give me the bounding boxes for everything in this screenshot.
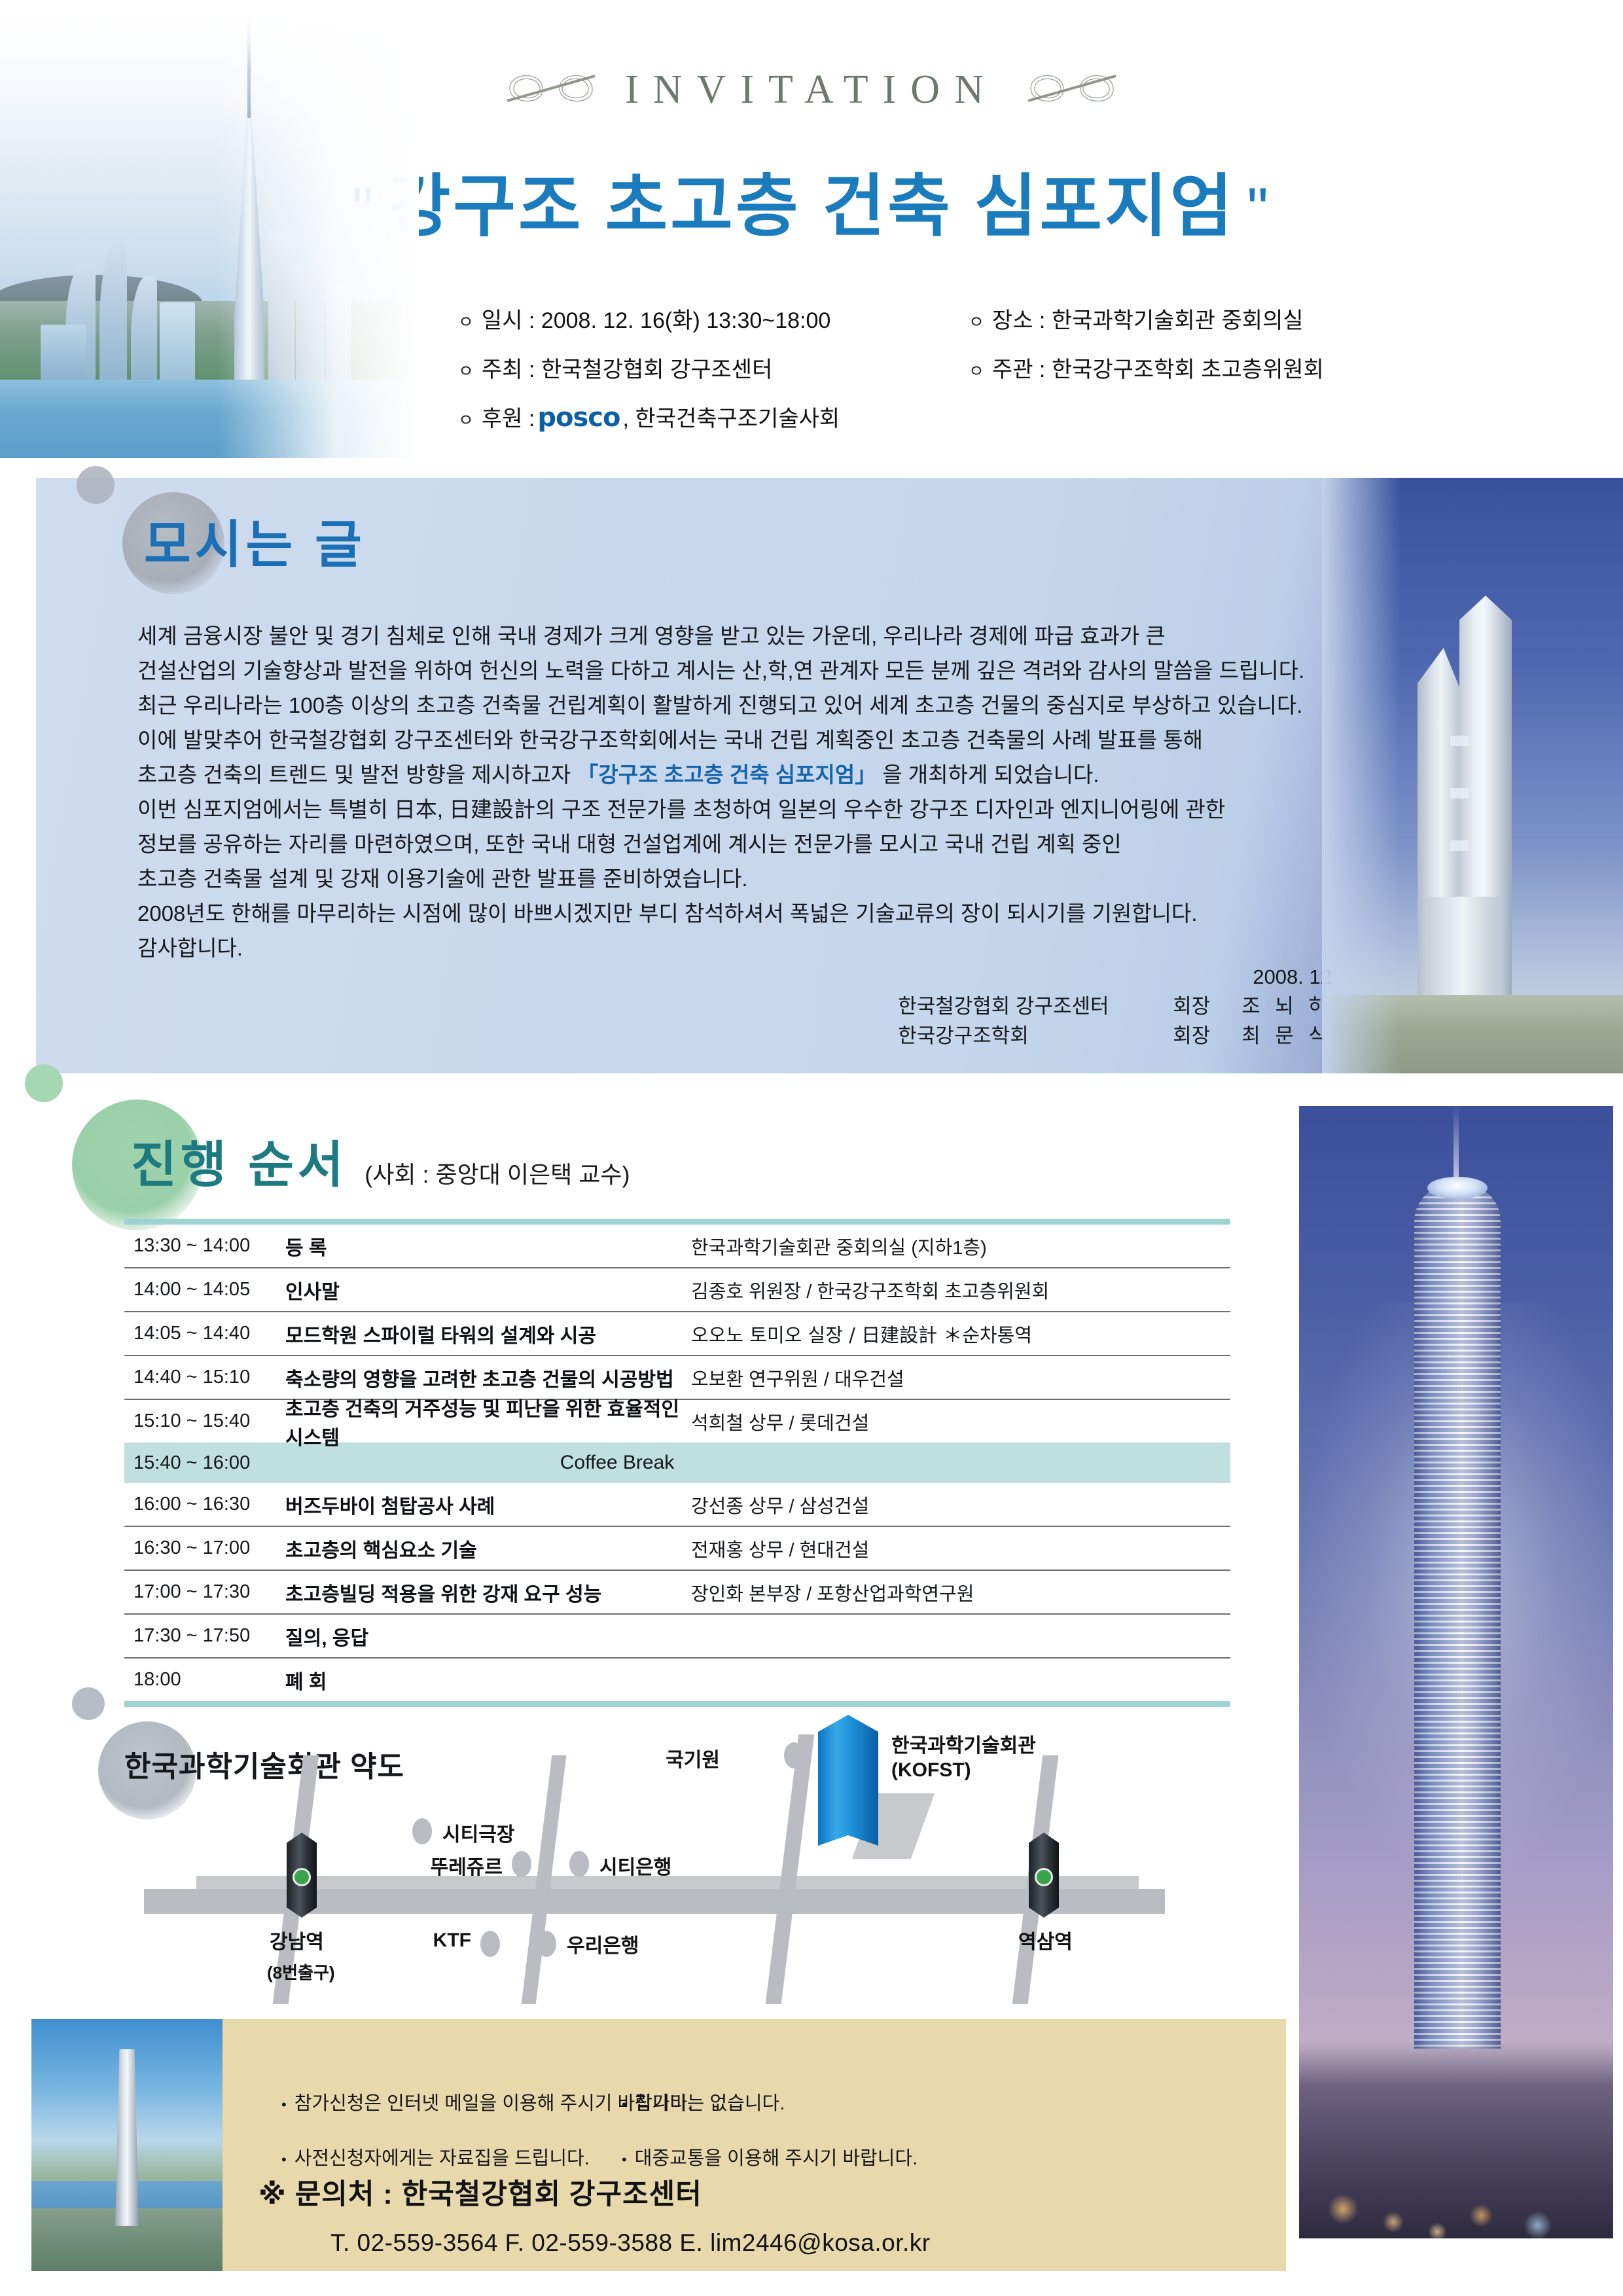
signature-org: 한국강구조학회 [898, 1021, 1173, 1050]
label-ktf: KTF [433, 1929, 471, 1952]
info-sponsor: ㅇ 후원 : posco , 한국건축구조기술사회 [458, 401, 840, 433]
row-time: 16:00 ~ 16:30 [124, 1494, 285, 1515]
subway-station-gangnam-icon [287, 1833, 317, 1918]
kofst-label: 한국과학기술회관 [891, 1729, 1036, 1758]
header-info-row: ㅇ 일시 : 2008. 12. 16(화) 13:30~18:00 ㅇ 장소 … [458, 302, 1571, 334]
bullet-icon: ㅇ [969, 309, 984, 333]
decor-dot-green-small [25, 1064, 63, 1102]
poi-dot-city-theater [412, 1818, 432, 1844]
signature-date-row: 2008. 12 [887, 962, 1332, 992]
row-topic: 초고층빌딩 적용을 위한 강재 요구 성능 [285, 1578, 691, 1607]
greeting-line: 초고층 건축물 설계 및 강재 이용기술에 관한 발표를 준비하였습니다. [137, 861, 1335, 896]
row-time: 15:10 ~ 15:40 [124, 1410, 285, 1432]
row-time: 18:00 [124, 1669, 285, 1691]
bullet-icon: ㅇ [458, 407, 474, 431]
bullet-icon: ㅇ [458, 358, 474, 382]
table-row: 15:10 ~ 15:40 초고층 건축의 거주성능 및 피난을 위한 효율적인… [124, 1400, 1230, 1443]
greeting-body: 세계 금융시장 불안 및 경기 침체로 인해 국내 경제가 크게 영향을 받고 … [137, 619, 1335, 965]
greeting-line-highlighted: 초고층 건축의 트렌드 및 발전 방향을 제시하고자 「강구조 초고층 건축 심… [137, 757, 1335, 792]
footer-note-label: 참가비는 없습니다. [635, 2088, 785, 2115]
ornament-right-icon [1023, 63, 1121, 117]
table-row: 16:00 ~ 16:30 버즈두바이 첨탑공사 사례 강선종 상무 / 삼성건… [124, 1483, 1230, 1527]
row-break-label: Coffee Break [285, 1452, 1230, 1474]
footer-note-row: • 참가신청은 인터넷 메일을 이용해 주시기 바랍니다. • 참가비는 없습니… [281, 2088, 1198, 2115]
signature-row: 한국강구조학회 회장 최 문 식 [887, 1021, 1332, 1050]
signature-row: 한국철강협회 강구조센터 회장 조 뇌 하 [887, 992, 1332, 1021]
contact-heading: ※ 문의처 : 한국철강협회 강구조센터 [259, 2172, 931, 2212]
decor-dot-map-small [72, 1687, 105, 1720]
row-time: 15:40 ~ 16:00 [124, 1452, 285, 1474]
info-host-label: 주최 : 한국철강협회 강구조센터 [482, 351, 772, 384]
greeting-line: 2008년도 한해를 마무리하는 시점에 많이 바쁘시겠지만 부디 참석하셔서 … [137, 896, 1335, 931]
info-sponsor-suffix: , 한국건축구조기술사회 [623, 401, 840, 433]
label-yeoksam-station: 역삼역 [1018, 1926, 1073, 1954]
ornament-left-icon [502, 63, 600, 117]
table-row: 17:00 ~ 17:30 초고층빌딩 적용을 위한 강재 요구 성능 장인화 … [124, 1571, 1230, 1615]
signature-date: 2008. 12 [1253, 962, 1332, 992]
footer-note-item: • 참가신청은 인터넷 메일을 이용해 주시기 바랍니다. [281, 2088, 622, 2115]
row-time: 14:00 ~ 14:05 [124, 1279, 285, 1300]
row-time: 14:05 ~ 14:40 [124, 1323, 285, 1344]
label-tourlesjours: 뚜레쥬르 [431, 1851, 503, 1880]
footer-note-label: 사전신청자에게는 자료집을 드립니다. [294, 2143, 590, 2170]
info-venue-label: 장소 : 한국과학기술회관 중회의실 [992, 302, 1304, 334]
row-time: 16:30 ~ 17:00 [124, 1537, 285, 1559]
contact-details: T. 02-559-3564 F. 02-559-3588 E. lim2446… [330, 2229, 931, 2257]
title-quote-close: " [1235, 176, 1283, 243]
greeting-line: 정보를 공유하는 자리를 마련하였으며, 또한 국내 대형 건설업계에 계시는 … [137, 827, 1335, 861]
photo-fade-top [0, 0, 419, 458]
row-topic: 버즈두바이 첨탑공사 사례 [285, 1490, 691, 1519]
row-speaker: 김종호 위원장 / 한국강구조학회 초고층위원회 [691, 1276, 1230, 1304]
header-skyline-photo [0, 0, 419, 458]
row-speaker: 전재홍 상무 / 현대건설 [691, 1535, 1230, 1562]
info-datetime: ㅇ 일시 : 2008. 12. 16(화) 13:30~18:00 [458, 302, 969, 334]
info-host: ㅇ 주최 : 한국철강협회 강구조센터 [458, 351, 969, 384]
greeting-line: 세계 금융시장 불안 및 경기 침체로 인해 국내 경제가 크게 영향을 받고 … [137, 619, 1335, 653]
map-title: 한국과학기술회관 약도 [124, 1743, 404, 1785]
sky-bridge-3 [1450, 840, 1469, 851]
label-gangnam-exit: (8번출구) [267, 1960, 335, 1984]
row-topic: 초고층의 핵심요소 기술 [285, 1534, 691, 1563]
program-subtitle: (사회 : 중앙대 이은택 교수) [350, 1156, 630, 1196]
greeting-section: 모시는 글 세계 금융시장 불안 및 경기 침체로 인해 국내 경제가 크게 영… [36, 478, 1623, 1073]
table-row: 14:00 ~ 14:05 인사말 김종호 위원장 / 한국강구조학회 초고층위… [124, 1268, 1230, 1312]
location-map: 한국과학기술회관 약도 한국과학기술회관 (KOFST) 국기원 시티극장 뚜레… [79, 1695, 1250, 2003]
footer-note-item: • 참가비는 없습니다. [622, 2088, 785, 2115]
footer-note-row: • 사전신청자에게는 자료집을 드립니다. • 대중교통을 이용해 주시기 바랍… [281, 2143, 1198, 2170]
invitation-label: INVITATION [603, 67, 1020, 113]
road-vertical-kofst [766, 1734, 815, 2004]
night-tower-photo [1299, 1106, 1613, 2238]
footer-contact-block: ※ 문의처 : 한국철강협회 강구조센터 T. 02-559-3564 F. 0… [259, 2172, 931, 2257]
row-topic: 축소량의 영향을 고려한 초고층 건물의 시공방법 [285, 1363, 691, 1392]
label-city-theater: 시티극장 [442, 1818, 514, 1847]
posco-logo: posco [535, 403, 622, 433]
greeting-line: 이번 심포지엄에서는 특별히 日本, 日建設計의 구조 전문가를 초청하여 일본… [137, 792, 1335, 827]
row-topic: 인사말 [285, 1276, 691, 1304]
bullet-dot-icon: • [281, 2151, 287, 2168]
info-organizer: ㅇ 주관 : 한국강구조학회 초고층위원회 [969, 351, 1324, 384]
row-topic: 모드학원 스파이럴 타워의 설계와 시공 [285, 1319, 691, 1348]
greeting-tower-photo [1322, 478, 1623, 1073]
program-schedule-table: 13:30 ~ 14:00 등 록 한국과학기술회관 중회의실 (지하1층) 1… [124, 1219, 1230, 1707]
greeting-hl-title: 「강구조 초고층 건축 심포지엄」 [577, 762, 876, 787]
poi-dot-ktf [480, 1931, 500, 1957]
kofst-sublabel: (KOFST) [891, 1759, 971, 1782]
bullet-dot-icon: • [622, 2096, 627, 2113]
bullet-dot-icon: • [622, 2151, 627, 2168]
row-topic: 등 록 [285, 1232, 691, 1261]
signature-role: 회장 [1173, 1021, 1241, 1050]
info-organizer-label: 주관 : 한국강구조학회 초고층위원회 [992, 351, 1324, 384]
poi-dot-gukgiwon [784, 1742, 804, 1768]
row-topic: 폐 회 [285, 1666, 691, 1695]
row-speaker: 오보환 연구위원 / 대우건설 [691, 1364, 1230, 1391]
kofst-building-icon [818, 1715, 878, 1846]
label-gukgiwon: 국기원 [666, 1744, 720, 1772]
program-title: 진행 순서 [131, 1124, 348, 1196]
greeting-line: 최근 우리나라는 100층 이상의 초고층 건축물 건립계획이 활발하게 진행되… [137, 688, 1335, 723]
row-speaker: 장인화 본부장 / 포항산업과학연구원 [691, 1579, 1230, 1606]
greeting-photo-fade [1322, 478, 1400, 1073]
row-time: 17:00 ~ 17:30 [124, 1581, 285, 1603]
greeting-signature-block: 2008. 12 한국철강협회 강구조센터 회장 조 뇌 하 한국강구조학회 회… [887, 962, 1332, 1050]
header-info-row: ㅇ 후원 : posco , 한국건축구조기술사회 [458, 401, 1571, 433]
footer-note-label: 대중교통을 이용해 주시기 바랍니다. [635, 2143, 918, 2170]
label-gangnam-station: 강남역 [270, 1926, 324, 1954]
sky-bridge-1 [1450, 736, 1469, 746]
bullet-icon: ㅇ [969, 358, 984, 382]
signature-org: 한국철강협회 강구조센터 [898, 992, 1173, 1021]
greeting-hl-before: 초고층 건축의 트렌드 및 발전 방향을 제시하고자 [137, 762, 577, 787]
tower-crown [1427, 1177, 1488, 1199]
greeting-line: 이에 발맞추어 한국철강협회 강구조센터와 한국강구조학회에서는 국내 건립 계… [137, 723, 1335, 757]
row-speaker: 강선종 상무 / 삼성건설 [691, 1491, 1230, 1518]
row-topic: 질의, 응답 [285, 1622, 691, 1651]
greeting-podium [1427, 897, 1499, 1001]
row-topic: 초고층 건축의 거주성능 및 피난을 위한 효율적인 시스템 [285, 1393, 691, 1450]
row-time: 13:30 ~ 14:00 [124, 1235, 285, 1257]
sky-bridge-2 [1450, 788, 1469, 798]
header-info-list: ㅇ 일시 : 2008. 12. 16(화) 13:30~18:00 ㅇ 장소 … [458, 302, 1571, 450]
label-citibank: 시티은행 [599, 1851, 671, 1880]
greeting-hl-after: 을 개최하게 되었습니다. [876, 762, 1099, 787]
footer-tower-photo [31, 2019, 223, 2271]
signature-role: 회장 [1173, 992, 1241, 1021]
table-row: 17:30 ~ 17:50 질의, 응답 [124, 1615, 1230, 1659]
info-sponsor-prefix: 후원 : [482, 401, 535, 433]
poi-dot-tourlesjours [512, 1851, 531, 1877]
row-time: 17:30 ~ 17:50 [124, 1625, 285, 1647]
bullet-icon: ㅇ [458, 309, 474, 333]
table-row: 16:30 ~ 17:00 초고층의 핵심요소 기술 전재홍 상무 / 현대건설 [124, 1527, 1230, 1571]
signature-name: 최 문 식 [1241, 1021, 1332, 1050]
subway-station-yeoksam-icon [1029, 1833, 1059, 1918]
program-header: 진행 순서 (사회 : 중앙대 이은택 교수) [131, 1124, 630, 1196]
info-datetime-label: 일시 : 2008. 12. 16(화) 13:30~18:00 [482, 302, 830, 334]
city-lights [1299, 2075, 1613, 2238]
night-tower-shape [1414, 1185, 1501, 2049]
header-section: INVITATION "강구조 초고층 건축 심포지엄" ㅇ 일시 : 2008… [0, 0, 1623, 458]
row-speaker: 석희철 상무 / 롯데건설 [691, 1408, 1230, 1435]
bullet-dot-icon: • [281, 2096, 287, 2113]
row-speaker: 오오노 토미오 실장 / 日建設計 ＊순차통역 [691, 1320, 1230, 1348]
info-venue: ㅇ 장소 : 한국과학기술회관 중회의실 [969, 302, 1304, 334]
greeting-line: 감사합니다. [137, 931, 1335, 965]
footer-note-item: • 대중교통을 이용해 주시기 바랍니다. [622, 2143, 918, 2170]
greeting-title: 모시는 글 [144, 504, 366, 577]
table-row: 14:05 ~ 14:40 모드학원 스파이럴 타워의 설계와 시공 오오노 토… [124, 1312, 1230, 1356]
signature-name: 조 뇌 하 [1241, 992, 1332, 1021]
poi-dot-citibank [569, 1851, 589, 1877]
footer-note-item: • 사전신청자에게는 자료집을 드립니다. [281, 2143, 622, 2170]
decor-dot-small [77, 466, 115, 504]
title-text: 강구조 초고층 건축 심포지엄 [388, 169, 1236, 245]
poi-dot-wooribank [537, 1931, 556, 1957]
label-wooribank: 우리은행 [567, 1929, 639, 1958]
row-speaker: 한국과학기술회관 중회의실 (지하1층) [691, 1232, 1230, 1260]
greeting-line: 건설산업의 기술향상과 발전을 위하여 헌신의 노력을 다하고 계시는 산,학,… [137, 653, 1335, 688]
table-row: 13:30 ~ 14:00 등 록 한국과학기술회관 중회의실 (지하1층) [124, 1225, 1230, 1268]
row-time: 14:40 ~ 15:10 [124, 1367, 285, 1388]
footer-tower-shape [115, 2049, 139, 2226]
header-info-row: ㅇ 주최 : 한국철강협회 강구조센터 ㅇ 주관 : 한국강구조학회 초고층위원… [458, 351, 1571, 384]
